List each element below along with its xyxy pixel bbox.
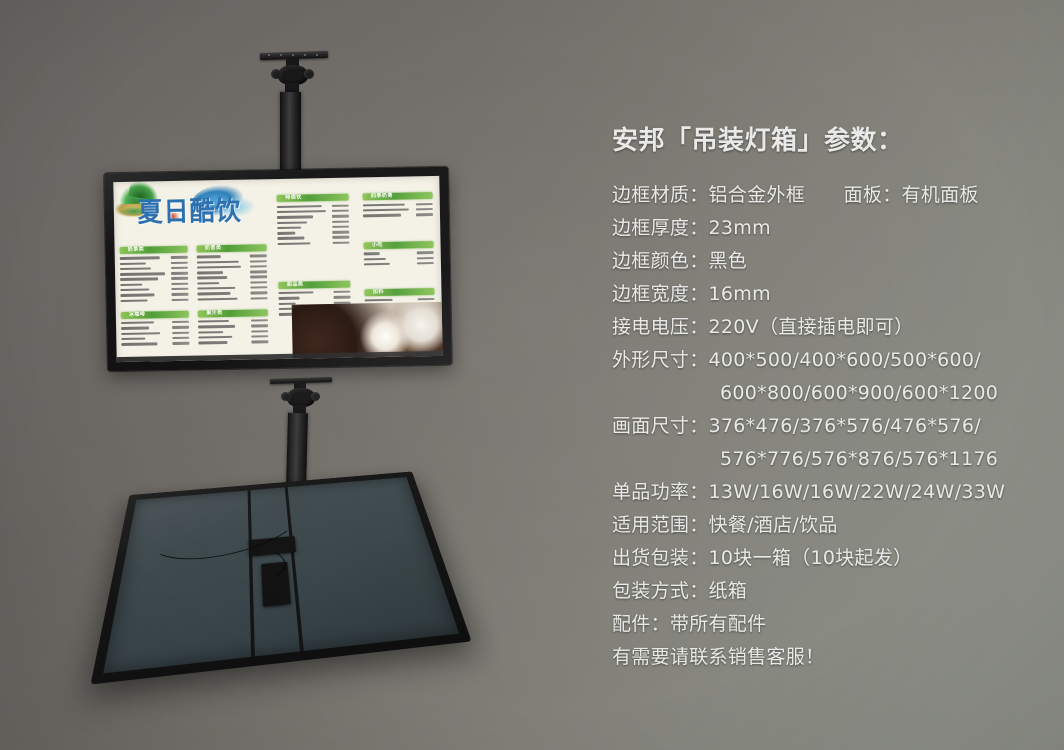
menu-section-header: 甜品类 [287, 280, 304, 287]
tilt-knob-left-icon [271, 69, 281, 79]
menu-hero-artwork: 夏日酷饮 [113, 179, 284, 242]
spec-line: 接电电压：220V（直接插电即可） [612, 311, 1042, 344]
menu-section-header: 加料 [373, 288, 384, 295]
menu-section-header: 小吃 [372, 241, 383, 248]
spec-line: 外形尺寸：400*500/400*600/500*600/ [612, 344, 1042, 377]
menu-section: 加料 [364, 288, 434, 304]
menu-section: 奶茶类 [120, 246, 189, 304]
menu-section-header: 特调饮 [285, 194, 302, 201]
menu-section-header: 果汁类 [206, 309, 223, 316]
ceiling-mount-bracket [248, 48, 348, 176]
product-photo-canvas: 夏日酷饮 奶茶类 冰咖啡 [0, 0, 1064, 750]
spec-line: 576*776/576*876/576*1176 [612, 443, 1042, 476]
spec-line-list: 边框材质：铝合金外框 面板：有机面板边框厚度：23mm边框颜色：黑色边框宽度：1… [612, 179, 1042, 674]
spec-line: 边框厚度：23mm [612, 212, 1042, 245]
spec-line: 边框材质：铝合金外框 面板：有机面板 [612, 179, 1042, 212]
tilt-knob-right-icon [311, 392, 320, 401]
spec-line: 适用范围：快餐/酒店/饮品 [612, 509, 1042, 542]
specification-panel: 安邦「吊装灯箱」参数： 边框材质：铝合金外框 面板：有机面板边框厚度：23mm边… [612, 126, 1042, 674]
spec-line: 有需要请联系销售客服！ [612, 641, 1042, 674]
tilt-knob-left-icon [281, 392, 290, 401]
menu-section: 冰咖啡 [121, 310, 190, 347]
menu-face: 夏日酷饮 奶茶类 冰咖啡 [113, 176, 442, 362]
spec-line: 画面尺寸：376*476/376*576/476*576/ [612, 410, 1042, 443]
menu-section-header: 奶茶类 [128, 245, 145, 252]
upper-drop-pole [280, 92, 301, 178]
menu-section: 四季奶青 [363, 192, 433, 218]
spec-line: 边框颜色：黑色 [612, 245, 1042, 278]
coffee-photo [292, 302, 443, 359]
menu-section: 果汁类 [198, 309, 269, 346]
tilt-knob-right-icon [304, 69, 314, 79]
spec-line: 出货包装：10块一箱（10块起发） [612, 542, 1042, 575]
menu-section: 奶昔类 [197, 244, 268, 302]
spec-line: 配件：带所有配件 [612, 608, 1042, 641]
menu-section-header: 冰咖啡 [129, 310, 146, 317]
spec-line: 包装方式：纸箱 [612, 575, 1042, 608]
menu-section: 小吃 [364, 241, 434, 267]
menu-section: 特调饮 [277, 194, 350, 247]
menu-section-header: 四季奶青 [371, 192, 393, 199]
spec-line: 600*800/600*900/600*1200 [612, 377, 1042, 410]
menu-section-header: 奶昔类 [205, 244, 222, 251]
menu-light-box: 夏日酷饮 奶茶类 冰咖啡 [104, 167, 452, 372]
menu-title: 夏日酷饮 [137, 189, 242, 230]
spec-line: 单品功率：13W/16W/16W/22W/24W/33W [612, 476, 1042, 509]
light-box-rear-panel [126, 470, 426, 675]
spec-title: 安邦「吊装灯箱」参数： [612, 126, 1042, 157]
spec-line: 边框宽度：16mm [612, 278, 1042, 311]
